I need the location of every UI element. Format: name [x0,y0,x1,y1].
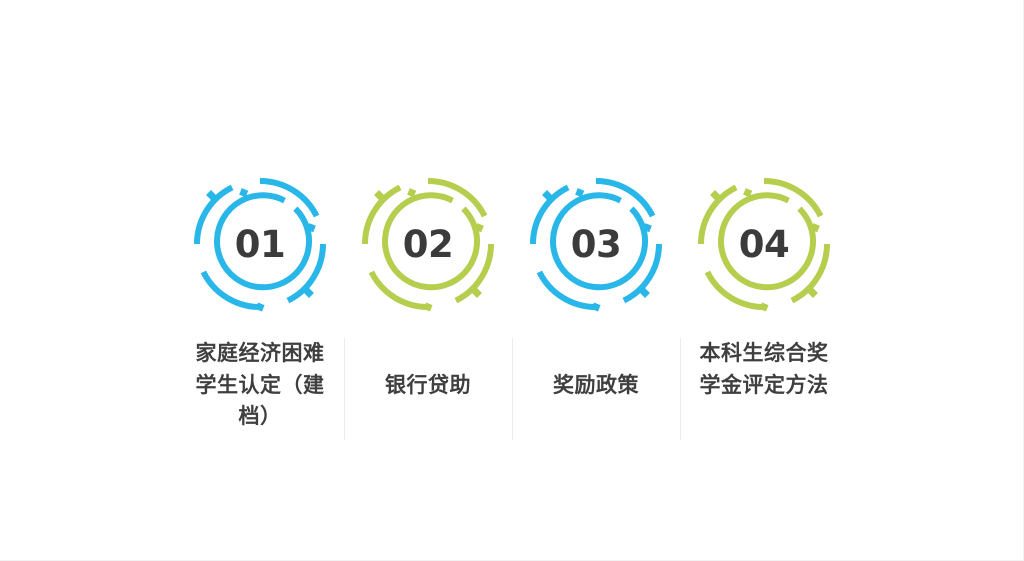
step-label: 奖励政策 [526,370,666,402]
step-badge: 03 [528,176,664,312]
step-number: 01 [192,176,328,312]
step-item[interactable]: 01 家庭经济困难学生认定（建档） [176,176,344,433]
step-number: 04 [696,176,832,312]
step-badge: 04 [696,176,832,312]
step-item[interactable]: 03 奖励政策 [512,176,680,402]
step-label: 家庭经济困难学生认定（建档） [190,338,330,433]
step-badge: 01 [192,176,328,312]
step-list: 01 家庭经济困难学生认定（建档） [176,176,848,433]
step-label: 本科生综合奖学金评定方法 [694,338,834,401]
step-item[interactable]: 04 本科生综合奖学金评定方法 [680,176,848,401]
step-item[interactable]: 02 银行贷助 [344,176,512,402]
step-number: 02 [360,176,496,312]
step-label: 银行贷助 [358,370,498,402]
step-badge: 02 [360,176,496,312]
slide-canvas: 01 家庭经济困难学生认定（建档） [0,0,1024,561]
step-number: 03 [528,176,664,312]
